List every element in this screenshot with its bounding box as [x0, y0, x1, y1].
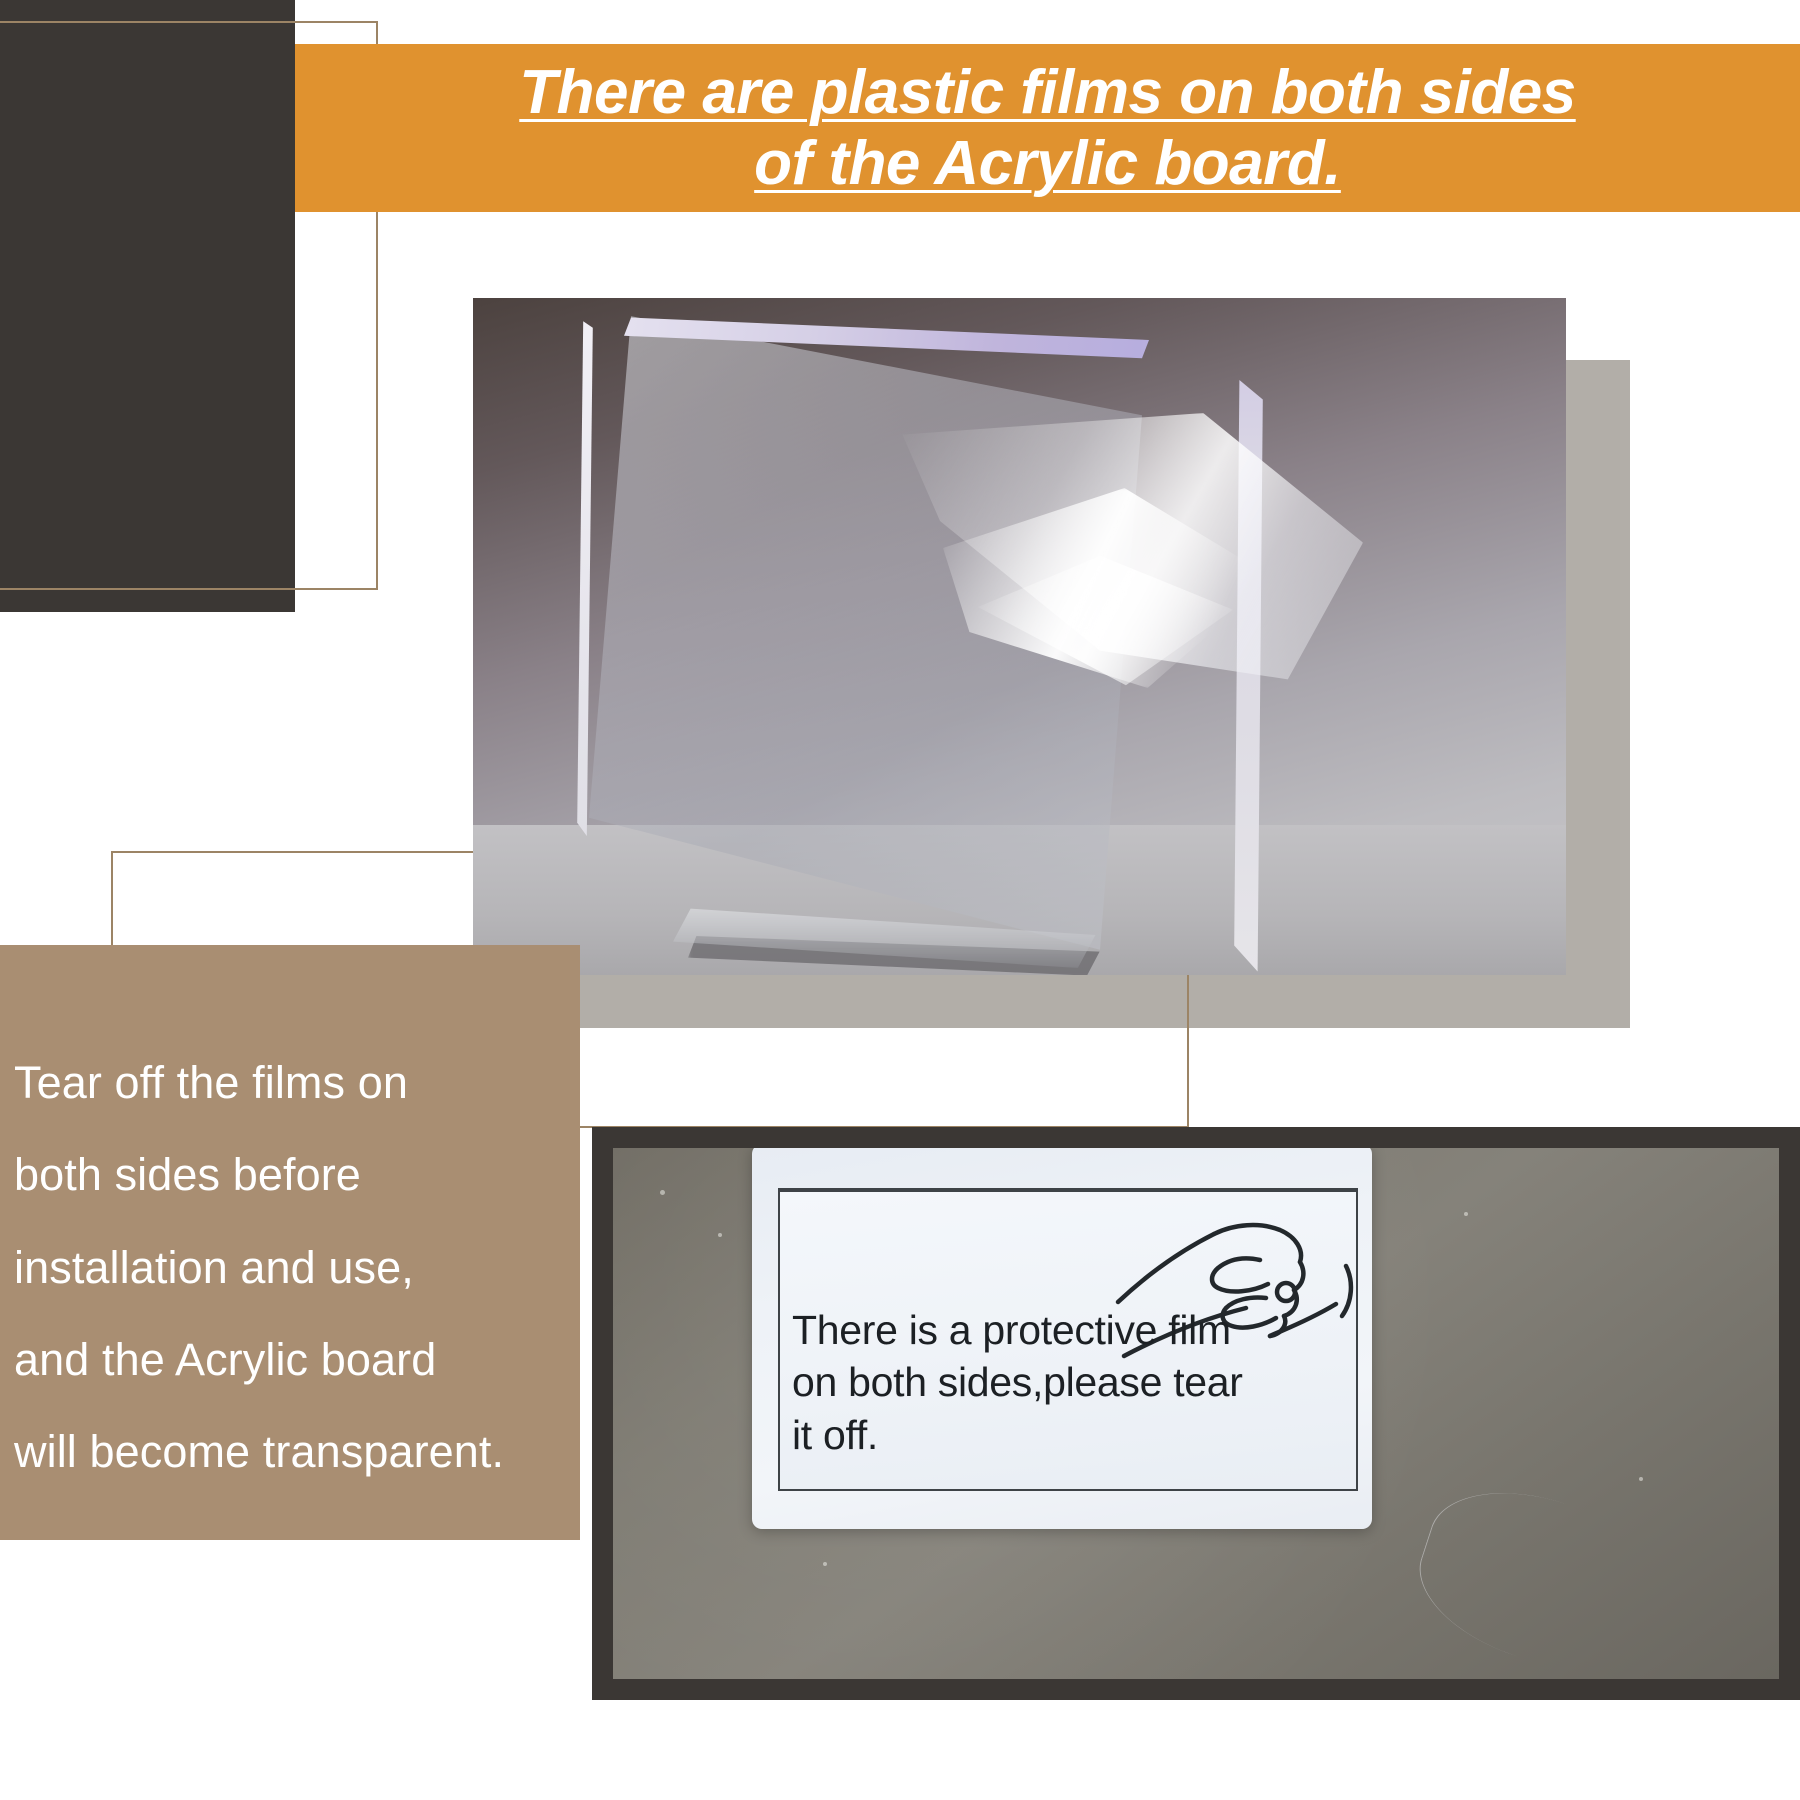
- instruction-line-3: installation and use,: [14, 1222, 580, 1314]
- warning-label-line-2: on both sides,please tear: [792, 1356, 1350, 1408]
- warning-label-line-1: There is a protective film: [792, 1304, 1350, 1356]
- instruction-line-4: and the Acrylic board: [14, 1314, 580, 1406]
- surface-hairline-scratch: [1402, 1467, 1737, 1679]
- title-banner: There are plastic films on both sides of…: [295, 44, 1800, 212]
- instruction-line-2: both sides before: [14, 1129, 580, 1221]
- surface-speck: [1639, 1477, 1643, 1481]
- warning-label-line-3: it off.: [792, 1409, 1350, 1461]
- warning-label-text: There is a protective film on both sides…: [792, 1304, 1350, 1461]
- page-title: There are plastic films on both sides of…: [463, 57, 1633, 200]
- warning-label-photo-frame: There is a protective film on both sides…: [592, 1127, 1800, 1700]
- warning-label-card: There is a protective film on both sides…: [752, 1148, 1372, 1529]
- slide-canvas: There are plastic films on both sides of…: [0, 0, 1800, 1800]
- warning-label-photo: There is a protective film on both sides…: [613, 1148, 1779, 1679]
- surface-speck: [1464, 1212, 1468, 1216]
- instruction-line-1: Tear off the films on: [14, 1037, 580, 1129]
- instruction-panel: Tear off the films on both sides before …: [0, 945, 580, 1540]
- surface-speck: [823, 1562, 827, 1566]
- surface-speck: [718, 1233, 722, 1237]
- instruction-line-5: will become transparent.: [14, 1406, 580, 1498]
- acrylic-sheet-photo: [473, 298, 1566, 975]
- surface-speck: [660, 1190, 665, 1195]
- warning-label-border: There is a protective film on both sides…: [778, 1188, 1358, 1491]
